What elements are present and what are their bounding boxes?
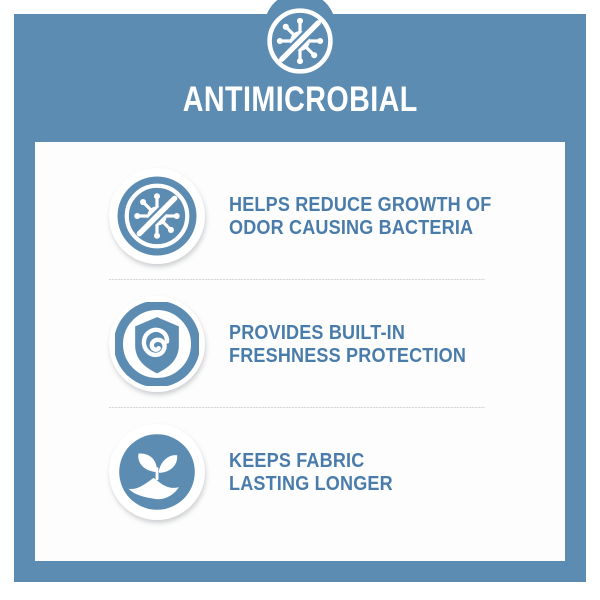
content-panel: HELPS REDUCE GROWTH OF ODOR CAUSING BACT… — [35, 142, 565, 561]
shield-swirl-icon — [115, 302, 199, 386]
feature-label-line2: LASTING LONGER — [229, 472, 393, 495]
feature-icon-badge — [109, 168, 205, 264]
feature-label-line1: PROVIDES BUILT-IN — [229, 321, 466, 344]
feature-icon-badge — [109, 424, 205, 520]
feature-row: PROVIDES BUILT-IN FRESHNESS PROTECTION — [35, 280, 565, 407]
feature-label-line1: KEEPS FABRIC — [229, 449, 393, 472]
feature-label: KEEPS FABRIC LASTING LONGER — [229, 449, 393, 495]
feature-label: HELPS REDUCE GROWTH OF ODOR CAUSING BACT… — [229, 193, 491, 239]
feature-label-line1: HELPS REDUCE GROWTH OF — [229, 193, 491, 216]
no-virus-icon — [262, 3, 338, 79]
feature-row: KEEPS FABRIC LASTING LONGER — [35, 408, 565, 535]
antimicrobial-infographic: ANTIMICROBIAL — [0, 0, 600, 600]
feature-list: HELPS REDUCE GROWTH OF ODOR CAUSING BACT… — [35, 142, 565, 561]
page-title: ANTIMICROBIAL — [183, 81, 418, 119]
no-virus-icon — [115, 174, 199, 258]
feature-row: HELPS REDUCE GROWTH OF ODOR CAUSING BACT… — [35, 152, 565, 279]
feature-label-line2: FRESHNESS PROTECTION — [229, 344, 466, 367]
header: ANTIMICROBIAL — [14, 14, 586, 142]
leaves-fabric-icon — [115, 430, 199, 514]
feature-label-line2: ODOR CAUSING BACTERIA — [229, 216, 491, 239]
feature-label: PROVIDES BUILT-IN FRESHNESS PROTECTION — [229, 321, 466, 367]
feature-icon-badge — [109, 296, 205, 392]
blue-frame: ANTIMICROBIAL — [14, 14, 586, 582]
